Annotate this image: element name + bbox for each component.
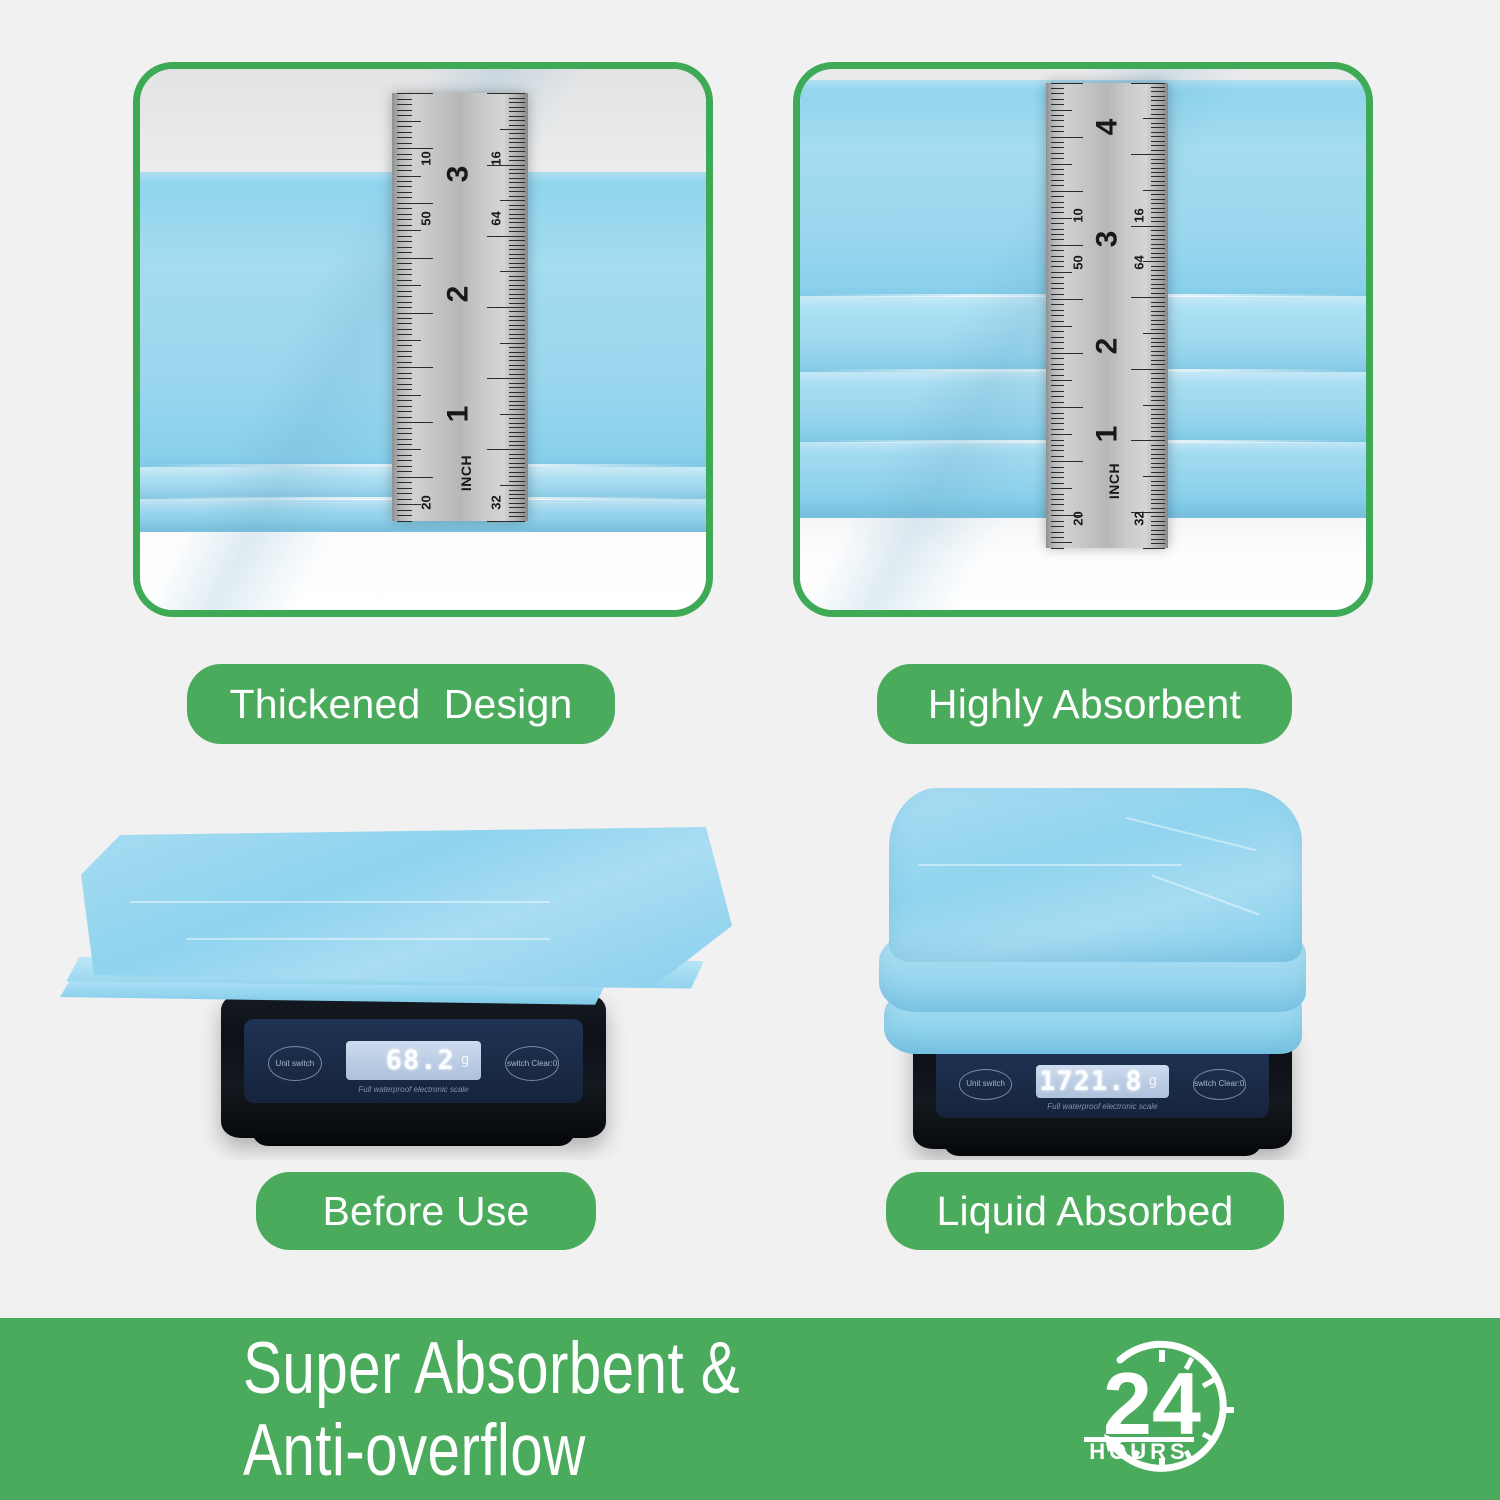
- ruler-tick: [1151, 508, 1165, 509]
- ruler-tick: [509, 365, 525, 366]
- ruler-tick: [1051, 294, 1064, 295]
- ruler-tick: [1051, 472, 1064, 473]
- ruler-tick: [397, 417, 412, 418]
- ruler-tick: [1151, 109, 1165, 110]
- ruler-tick: [509, 227, 525, 228]
- ruler-tick: [509, 472, 525, 473]
- ruler-tick: [1051, 310, 1064, 311]
- ruler-tick: [509, 160, 525, 161]
- ruler-metric-number: 16: [1131, 208, 1146, 222]
- ruler-tick: [1051, 521, 1064, 522]
- ruler-tick: [397, 378, 412, 379]
- ruler-tick: [397, 521, 412, 522]
- ruler-tick: [1051, 467, 1064, 468]
- ruler-tick: [397, 313, 432, 314]
- ruler-tick: [1051, 299, 1083, 300]
- ruler-tick: [397, 302, 412, 303]
- ruler-tick: [1151, 293, 1165, 294]
- ruler-tick: [1051, 385, 1064, 386]
- ruler-tick: [397, 115, 412, 116]
- ruler-tick: [509, 138, 525, 139]
- ruler-tick: [1051, 348, 1064, 349]
- ruler-tick: [1143, 333, 1165, 334]
- ruler-tick: [509, 205, 525, 206]
- ruler-tick: [1051, 169, 1064, 170]
- ruler-tick: [509, 263, 525, 264]
- ruler-tick: [509, 347, 525, 348]
- ruler-tick: [397, 258, 432, 259]
- ruler-tick: [1051, 337, 1064, 338]
- digital-scale: Unit switch 68.2 g switch Clear:0 Full w…: [221, 994, 606, 1138]
- ruler-tick: [1151, 302, 1165, 303]
- clock-24-hours-icon: 24 HOURS: [1078, 1338, 1240, 1488]
- unit-switch-button[interactable]: Unit switch: [959, 1069, 1012, 1100]
- ruler-tick: [1151, 346, 1165, 347]
- ruler-tick: [1151, 338, 1165, 339]
- ruler-tick: [1151, 445, 1165, 446]
- ruler-tick: [1051, 239, 1064, 240]
- ruler-tick: [1051, 413, 1064, 414]
- ruler-tick: [1051, 164, 1072, 165]
- ruler-tick: [509, 311, 525, 312]
- ruler-tick: [1151, 199, 1165, 200]
- ruler-tick: [1151, 516, 1165, 517]
- ruler-tick: [1151, 217, 1165, 218]
- ruler-tick: [1051, 180, 1064, 181]
- ruler-tick: [509, 432, 525, 433]
- ruler-tick: [1051, 99, 1064, 100]
- ruler-tick: [509, 401, 525, 402]
- ruler-number: 1: [442, 405, 476, 422]
- infographic-page: 3 2 1 INCH 10 50 20 16 64 32: [0, 0, 1500, 1500]
- photo-frame-highly-absorbent: 4 3 2 1 INCH 10 50 20 16 64 32: [793, 62, 1373, 617]
- ruler-tick: [1051, 223, 1064, 224]
- ruler-tick: [1151, 176, 1165, 177]
- ruler-tick: [397, 510, 412, 511]
- ruler-tick: [1131, 297, 1165, 298]
- ruler-tick: [1051, 93, 1064, 94]
- ruler-tick: [1051, 120, 1064, 121]
- ruler-tick: [1131, 226, 1165, 227]
- ruler-tick: [487, 449, 525, 450]
- ruler-tick: [1151, 494, 1165, 495]
- ruler-tick: [397, 181, 412, 182]
- ruler-tick: [509, 303, 525, 304]
- ruler-tick: [397, 482, 412, 483]
- ruler-tick: [1151, 132, 1165, 133]
- ruler-metric-number: 64: [1131, 255, 1146, 269]
- ruler-tick: [509, 512, 525, 513]
- scale-unit: g: [1149, 1073, 1157, 1089]
- ruler-tick: [397, 433, 412, 434]
- banner-headline: Super Absorbent & Anti-overflow: [243, 1328, 740, 1492]
- ruler-tick: [1051, 391, 1064, 392]
- ruler-number: 2: [1090, 338, 1124, 355]
- ruler-tick: [1151, 414, 1165, 415]
- ruler-tick: [509, 441, 525, 442]
- ruler-metric-number: 50: [419, 211, 434, 225]
- ruler-tick: [509, 405, 525, 406]
- ruler-tick: [509, 151, 525, 152]
- ruler-tick: [509, 294, 525, 295]
- ruler-tick: [1151, 454, 1165, 455]
- ruler-tick: [1151, 100, 1165, 101]
- ruler-tick: [509, 423, 525, 424]
- ruler-tick: [500, 414, 525, 415]
- ruler-tick: [1051, 212, 1064, 213]
- ruler-tick: [397, 154, 412, 155]
- ruler-tick: [509, 240, 525, 241]
- ruler-tick: [1051, 494, 1064, 495]
- ruler-tick: [1151, 324, 1165, 325]
- ruler-tick: [1051, 315, 1064, 316]
- ruler-tick: [1151, 521, 1165, 522]
- ruler-number: 4: [1090, 119, 1124, 136]
- ruler-tick: [509, 289, 525, 290]
- ruler-tick: [1051, 504, 1064, 505]
- ruler-tick: [509, 463, 525, 464]
- ruler-tick: [509, 120, 525, 121]
- ruler-tick: [1151, 382, 1165, 383]
- ruler-tick: [1151, 244, 1165, 245]
- ruler-tick: [1051, 131, 1064, 132]
- ruler-tick: [509, 383, 525, 384]
- ruler-tick: [1151, 525, 1165, 526]
- scale-reading: 1721.8: [1039, 1066, 1143, 1097]
- ruler-tick: [397, 247, 412, 248]
- ruler-tick: [397, 274, 412, 275]
- ruler-tick: [397, 132, 412, 133]
- ruler-tick: [1151, 534, 1165, 535]
- ruler-tick: [509, 173, 525, 174]
- ruler-tick: [1151, 288, 1165, 289]
- ruler-tick: [1051, 191, 1083, 192]
- ruler-tick: [1051, 277, 1064, 278]
- ruler-tick: [397, 334, 412, 335]
- ruler-tick: [1151, 539, 1165, 540]
- scale-caption: Full waterproof electronic scale: [244, 1085, 583, 1094]
- ruler-tick: [1051, 202, 1064, 203]
- ruler-tick: [397, 236, 412, 237]
- ruler-tick: [1151, 499, 1165, 500]
- ruler-tick: [1143, 190, 1165, 191]
- ruler-tick: [509, 249, 525, 250]
- ruler-tick: [509, 369, 525, 370]
- ruler-tick: [509, 187, 525, 188]
- ruler-tick: [509, 467, 525, 468]
- ruler-tick: [509, 490, 525, 491]
- ruler-tick: [1151, 472, 1165, 473]
- ruler-tick: [1151, 378, 1165, 379]
- ruler-tick: [1151, 423, 1165, 424]
- ruler-metric-number: 32: [489, 495, 504, 509]
- ruler-tick: [509, 267, 525, 268]
- ruler-tick: [1051, 353, 1083, 354]
- ruler-tick: [509, 507, 525, 508]
- ruler-tick: [1151, 409, 1165, 410]
- scale-lcd: 68.2 g: [346, 1041, 482, 1079]
- ruler-tick: [487, 307, 525, 308]
- ruler-tick: [1151, 458, 1165, 459]
- ruler-tick: [397, 477, 432, 478]
- steel-ruler: 3 2 1 INCH 10 50 20 16 64 32: [392, 93, 528, 520]
- ruler-tick: [500, 129, 525, 130]
- ruler-tick: [1151, 212, 1165, 213]
- ruler-tick: [397, 186, 412, 187]
- ruler-tick: [1051, 321, 1064, 322]
- scale-control-panel: Unit switch 68.2 g switch Clear:0 Full w…: [244, 1019, 583, 1103]
- ruler-tick: [1051, 526, 1064, 527]
- ruler-tick: [487, 236, 525, 237]
- ruler-tick: [1151, 436, 1165, 437]
- ruler-tick: [397, 422, 432, 423]
- ruler-tick: [397, 411, 412, 412]
- unit-switch-button[interactable]: Unit switch: [268, 1046, 322, 1081]
- ruler-tick: [1151, 427, 1165, 428]
- ruler-tick: [509, 418, 525, 419]
- ruler-tick: [509, 280, 525, 281]
- pad-wrinkle: [186, 938, 550, 940]
- ruler-tick: [397, 493, 412, 494]
- ruler-tick: [1151, 360, 1165, 361]
- ruler-tick: [1051, 499, 1064, 500]
- ruler-tick: [397, 373, 412, 374]
- ruler-number: 2: [442, 286, 476, 303]
- ruler-tick: [397, 395, 420, 396]
- ruler-tick: [487, 93, 525, 94]
- ruler-metric-number: 16: [489, 151, 504, 165]
- ruler-tick: [1151, 503, 1165, 504]
- ruler-tick: [1151, 284, 1165, 285]
- ruler-tick: [397, 230, 420, 231]
- ruler-tick: [500, 485, 525, 486]
- ruler-tick: [1051, 137, 1083, 138]
- ruler-tick: [509, 458, 525, 459]
- ruler-tick: [1051, 83, 1083, 84]
- ruler-tick: [509, 454, 525, 455]
- ruler-tick: [1151, 257, 1165, 258]
- ruler-tick: [397, 439, 412, 440]
- ruler-tick: [1151, 315, 1165, 316]
- ruler-tick: [1151, 105, 1165, 106]
- ruler-tick: [1051, 402, 1064, 403]
- ruler-tick: [1151, 172, 1165, 173]
- ruler-tick: [397, 449, 420, 450]
- ruler-tick: [397, 241, 412, 242]
- ruler-tick: [1151, 355, 1165, 356]
- ruler-tick: [1151, 123, 1165, 124]
- ruler-tick: [500, 271, 525, 272]
- ruler-tick: [1151, 449, 1165, 450]
- ruler-tick: [509, 98, 525, 99]
- ruler-tick: [1051, 158, 1064, 159]
- ruler-tick: [397, 192, 412, 193]
- ruler-tick: [1051, 147, 1064, 148]
- ruler-tick: [500, 200, 525, 201]
- ruler-tick: [397, 280, 412, 281]
- ruler-tick: [509, 125, 525, 126]
- ruler-tick: [509, 116, 525, 117]
- photo-highly-absorbent: 4 3 2 1 INCH 10 50 20 16 64 32: [800, 69, 1366, 610]
- ruler-tick: [1151, 181, 1165, 182]
- ruler-tick: [1051, 326, 1072, 327]
- ruler-tick: [509, 360, 525, 361]
- ruler-tick: [509, 147, 525, 148]
- scale-reading: 68.2: [386, 1045, 455, 1076]
- ruler-tick: [509, 481, 525, 482]
- ruler-tick: [397, 208, 412, 209]
- ruler-tick: [1151, 221, 1165, 222]
- ruler-tick: [1151, 248, 1165, 249]
- ruler-tick: [1051, 261, 1064, 262]
- label-highly-absorbent: Highly Absorbent: [877, 664, 1292, 744]
- ruler-tick: [1051, 142, 1064, 143]
- ruler-tick: [397, 203, 432, 204]
- ruler-number: 1: [1090, 426, 1124, 443]
- ruler-tick: [1051, 229, 1064, 230]
- ruler-tick: [1051, 510, 1064, 511]
- ruler-tick: [1143, 405, 1165, 406]
- ruler-tick: [1143, 548, 1165, 549]
- ruler-tick: [1151, 320, 1165, 321]
- ruler-tick: [397, 99, 412, 100]
- photo-thickened-design: 3 2 1 INCH 10 50 20 16 64 32: [140, 69, 706, 610]
- ruler-tick: [1151, 127, 1165, 128]
- ruler-tick: [1151, 253, 1165, 254]
- ruler-tick: [1051, 537, 1064, 538]
- label-before-use: Before Use: [256, 1172, 596, 1250]
- ruler-tick: [509, 196, 525, 197]
- ruler-tick: [1143, 476, 1165, 477]
- ruler-number: 3: [442, 166, 476, 183]
- ruler-tick: [509, 494, 525, 495]
- ruler-tick: [397, 488, 412, 489]
- ruler-tick: [1051, 358, 1064, 359]
- ruler-tick: [1051, 196, 1064, 197]
- ruler-tick: [1151, 391, 1165, 392]
- ruler-tick: [1151, 208, 1165, 209]
- ruler-tick: [1051, 331, 1064, 332]
- ruler-tick: [509, 498, 525, 499]
- ruler-tick: [509, 427, 525, 428]
- ruler-tick: [1051, 364, 1064, 365]
- ruler-unit-label: INCH: [1106, 463, 1122, 499]
- ruler-tick: [397, 252, 412, 253]
- ruler-tick: [1151, 364, 1165, 365]
- ruler-tick: [1051, 272, 1072, 273]
- ruler-tick: [509, 396, 525, 397]
- ruler-tick: [509, 516, 525, 517]
- ruler-tick: [509, 231, 525, 232]
- ruler-tick: [397, 367, 432, 368]
- scale-control-panel: Unit switch 1721.8 g switch Clear:0 Full…: [936, 1046, 1270, 1119]
- ruler-tick: [1051, 369, 1064, 370]
- ruler-tick: [509, 338, 525, 339]
- ruler-tick: [397, 137, 412, 138]
- ruler-tick: [1051, 375, 1064, 376]
- ruler-tick: [1051, 434, 1072, 435]
- ruler-tick: [509, 191, 525, 192]
- ruler-tick: [509, 169, 525, 170]
- ruler-tick: [397, 307, 412, 308]
- ruler-tick: [397, 406, 412, 407]
- ruler-tick: [1051, 245, 1083, 246]
- ruler-tick: [1151, 159, 1165, 160]
- ruler-tick: [397, 93, 432, 94]
- ruler-tick: [1051, 185, 1064, 186]
- ruler-tick: [1151, 235, 1165, 236]
- ruler-tick: [1151, 463, 1165, 464]
- ruler-tick: [397, 225, 412, 226]
- ruler-tick: [1051, 423, 1064, 424]
- ruler-tick: [509, 276, 525, 277]
- ruler-tick: [1051, 234, 1064, 235]
- ruler-tick: [509, 298, 525, 299]
- ruler-tick: [1051, 342, 1064, 343]
- ruler-tick: [397, 143, 412, 144]
- ruler-tick: [1151, 400, 1165, 401]
- switch-clear-button[interactable]: switch Clear:0: [1193, 1069, 1246, 1100]
- ruler-tick: [1051, 483, 1064, 484]
- ruler-tick: [397, 400, 412, 401]
- ruler-tick: [1151, 136, 1165, 137]
- scale-caption: Full waterproof electronic scale: [936, 1102, 1270, 1111]
- ruler-tick: [1151, 418, 1165, 419]
- ruler-unit-label: INCH: [458, 455, 474, 491]
- ruler-metric-number: 50: [1070, 255, 1085, 269]
- ruler-tick: [509, 107, 525, 108]
- ruler-tick: [397, 499, 412, 500]
- ruler-tick: [397, 197, 412, 198]
- ruler-tick: [397, 214, 412, 215]
- ruler-tick: [509, 218, 525, 219]
- ruler-tick: [397, 110, 412, 111]
- ruler-tick: [1151, 91, 1165, 92]
- ruler-tick: [1051, 88, 1064, 89]
- ruler-tick: [509, 258, 525, 259]
- ruler-tick: [1151, 530, 1165, 531]
- ruler-metric-number: 20: [1070, 511, 1085, 525]
- ruler-tick: [1151, 342, 1165, 343]
- ruler-tick: [1051, 477, 1064, 478]
- scale-base: [252, 1123, 575, 1146]
- ruler-tick: [509, 102, 525, 103]
- ruler-tick: [1051, 104, 1064, 105]
- ruler-tick: [397, 269, 412, 270]
- ruler-tick: [397, 104, 412, 105]
- ruler-tick: [1051, 396, 1064, 397]
- ruler-tick: [397, 428, 412, 429]
- ruler-tick: [1131, 83, 1165, 84]
- ruler-tick: [1151, 145, 1165, 146]
- ruler-tick: [509, 352, 525, 353]
- ruler-tick: [1151, 351, 1165, 352]
- ruler-tick: [1151, 87, 1165, 88]
- switch-clear-button[interactable]: switch Clear:0: [505, 1046, 559, 1081]
- ruler-tick: [397, 159, 412, 160]
- ruler-tick: [509, 329, 525, 330]
- ruler-tick: [1051, 440, 1064, 441]
- ruler-tick: [1151, 141, 1165, 142]
- ruler-tick: [397, 351, 412, 352]
- ruler-tick: [397, 504, 420, 505]
- ruler-tick: [509, 222, 525, 223]
- ruler-tick: [1151, 329, 1165, 330]
- ruler-tick: [1051, 250, 1064, 251]
- ruler-tick: [1151, 96, 1165, 97]
- ruler-tick: [1151, 306, 1165, 307]
- ruler-tick: [1051, 450, 1064, 451]
